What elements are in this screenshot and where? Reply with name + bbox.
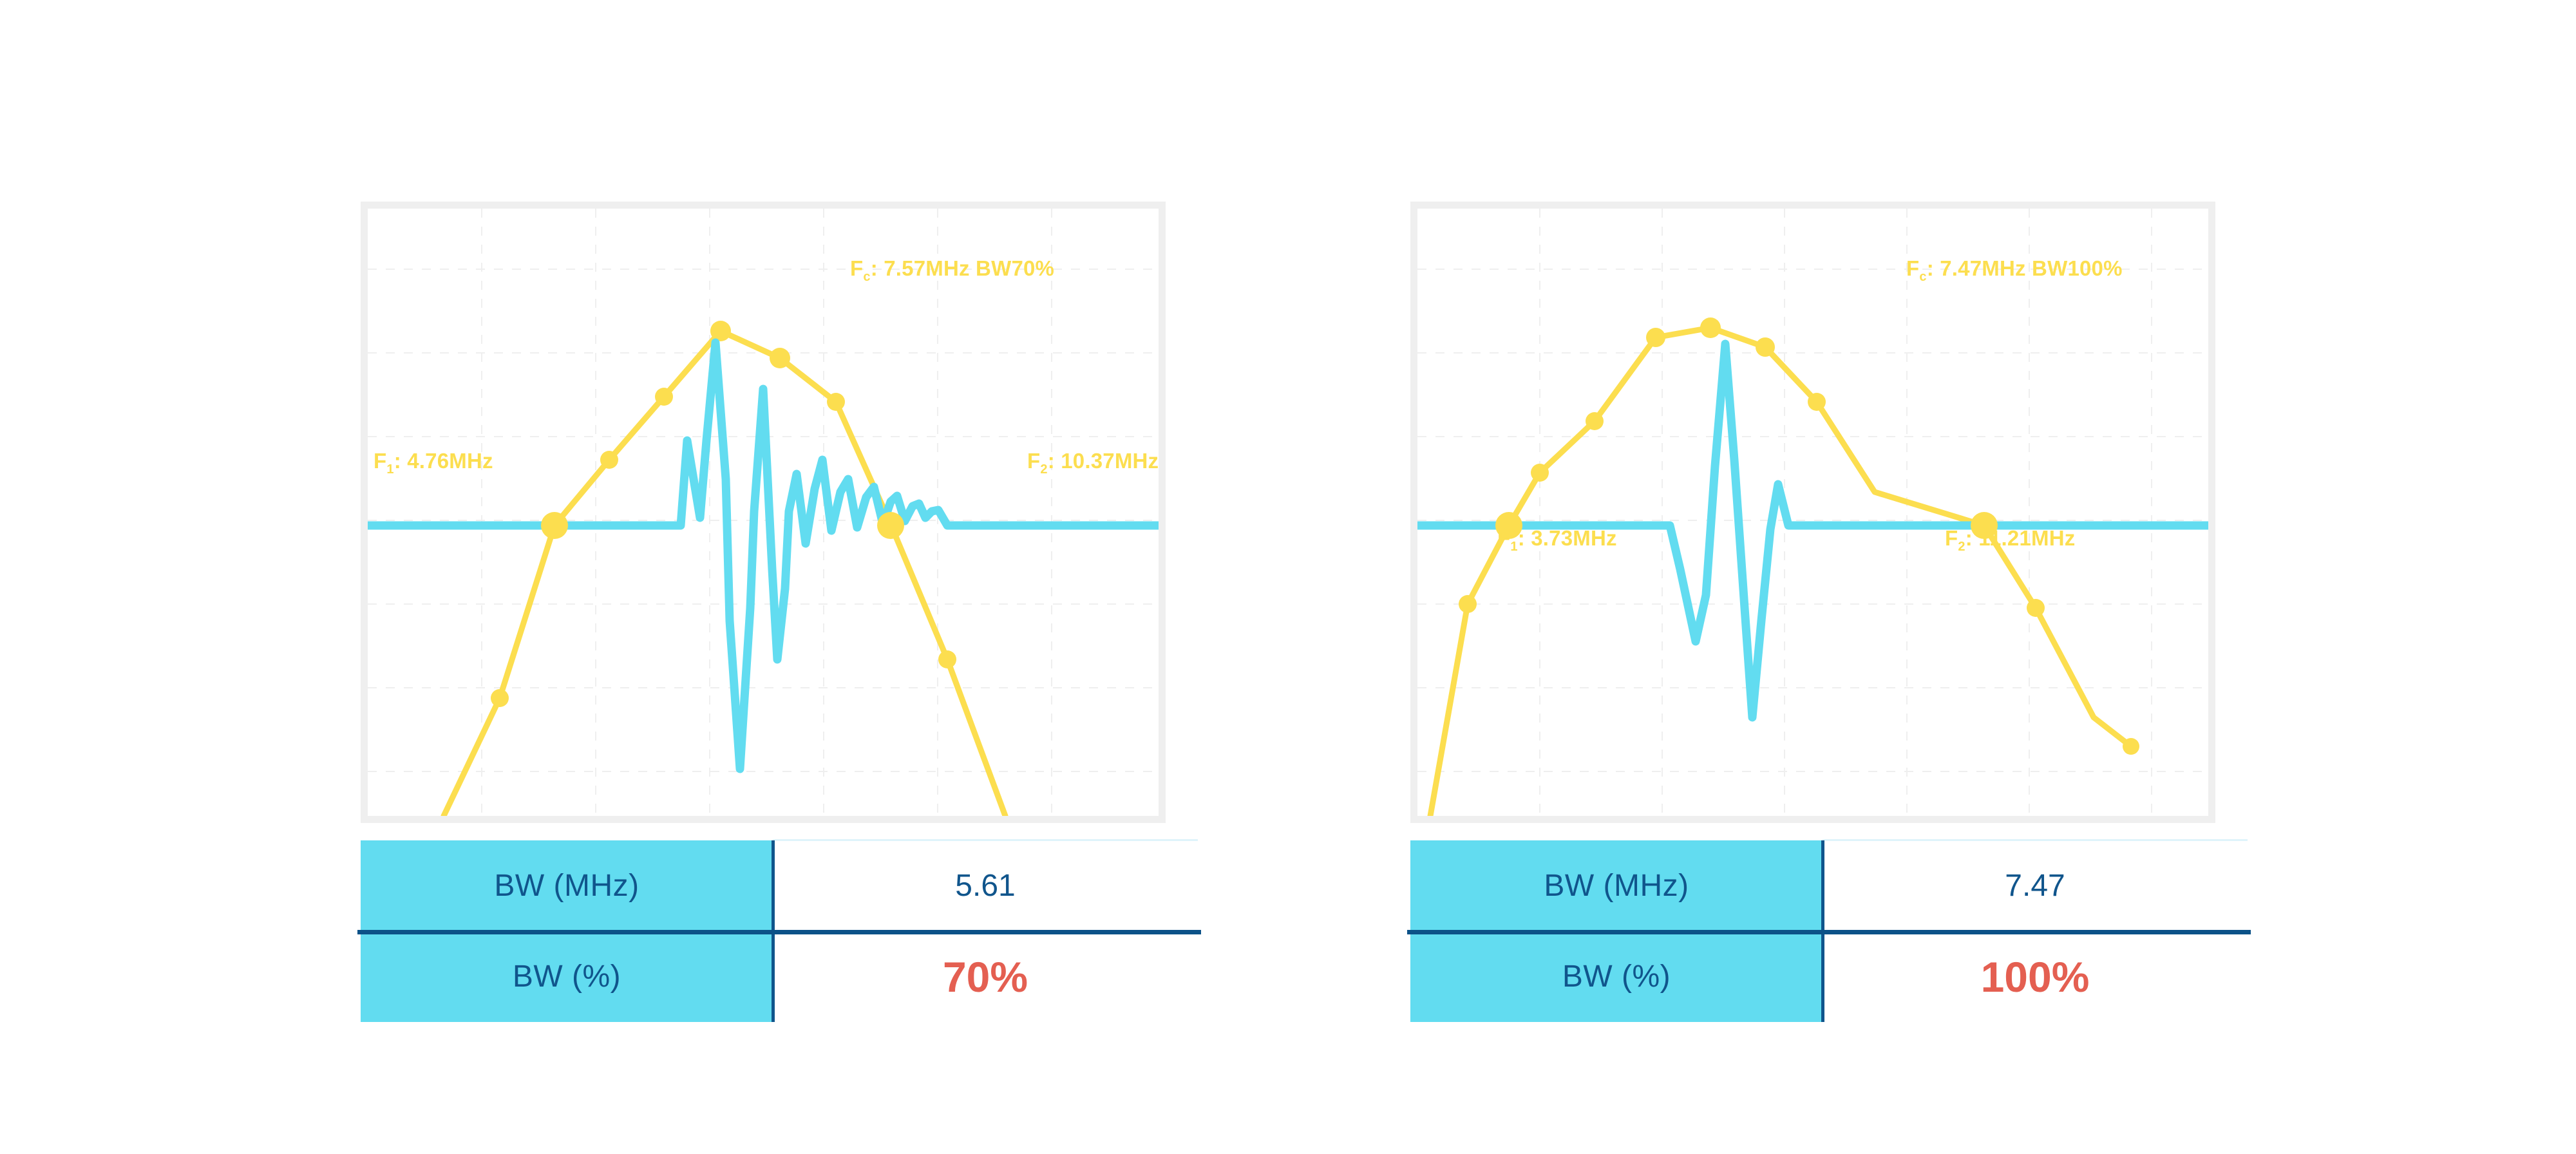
label-lower-cutoff-bw70: F1: 4.76MHz (374, 449, 493, 473)
table-row: BW (MHz) 7.47 (1410, 840, 2248, 931)
label-upper-cutoff-bw70: F2: 10.37MHz (1027, 449, 1159, 473)
f2-marker (877, 512, 904, 539)
label-upper-cutoff-bw100: F2: 11.21MHz (1945, 526, 2075, 551)
label-center-frequency-bw70: Fc: 7.57MHz BW70% (850, 256, 1054, 281)
chart-svg-bw70 (368, 209, 1159, 816)
grid-lines (1417, 209, 2208, 816)
table-value-bw-mhz: 7.47 (1823, 840, 2248, 931)
chart-svg-bw100 (1417, 209, 2208, 816)
panel-bw100: Fc: 7.47MHz BW100% F1: 3.73MHz F2: 11.21… (1307, 0, 2402, 1154)
label-lower-cutoff-bw100: F1: 3.73MHz (1497, 526, 1617, 551)
pulse-waveform (368, 343, 1159, 769)
table-horizontal-divider (1407, 930, 2251, 934)
table-key-bw-mhz: BW (MHz) (1410, 840, 1823, 931)
table-key-bw-mhz: BW (MHz) (361, 840, 773, 931)
table-row: BW (%) 70% (361, 931, 1198, 1022)
spectrum-curve (1430, 328, 2131, 816)
bw-table-bw100: BW (MHz) 7.47 BW (%) 100% (1410, 840, 2248, 1045)
table-value-bw-percent: 100% (1823, 931, 2248, 1022)
table-row: BW (MHz) 5.61 (361, 840, 1198, 931)
table-row: BW (%) 100% (1410, 931, 2248, 1022)
chart-frame-bw100 (1410, 202, 2215, 823)
bw-table-bw70: BW (MHz) 5.61 BW (%) 70% (361, 840, 1198, 1045)
plot-area-bw70 (368, 209, 1159, 816)
plot-area-bw100 (1417, 209, 2208, 816)
chart-frame-bw70 (361, 202, 1166, 823)
table-key-bw-percent: BW (%) (1410, 931, 1823, 1022)
label-center-frequency-bw100: Fc: 7.47MHz BW100% (1906, 256, 2123, 281)
table-horizontal-divider (357, 930, 1201, 934)
f1-marker (541, 512, 568, 539)
table-value-bw-mhz: 5.61 (773, 840, 1198, 931)
table-key-bw-percent: BW (%) (361, 931, 773, 1022)
table-value-bw-percent: 70% (773, 931, 1198, 1022)
panel-bw70: Fc: 7.57MHz BW70% F1: 4.76MHz F2: 10.37M… (258, 0, 1352, 1154)
